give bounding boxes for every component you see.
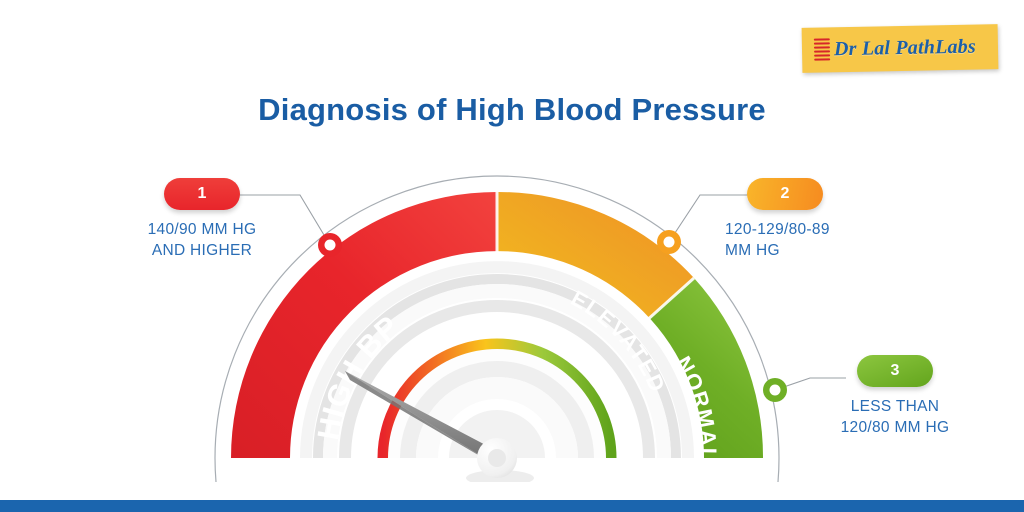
bottom-accent-bar: [0, 500, 1024, 512]
callout-1: 1 140/90 MM HG AND HIGHER: [112, 178, 292, 262]
callout-2-caption: 120-129/80-89 MM HG: [725, 220, 913, 262]
callout-dot-2: [657, 230, 681, 254]
callout-dot-1: [318, 233, 342, 257]
infographic-canvas: Dr Lal PathLabs Diagnosis of High Blood …: [0, 0, 1024, 512]
callout-2: 2 120-129/80-89 MM HG: [723, 178, 913, 262]
callout-1-caption: 140/90 MM HG AND HIGHER: [112, 220, 292, 262]
callout-1-badge[interactable]: 1: [164, 178, 240, 210]
callout-3-badge[interactable]: 3: [857, 355, 933, 387]
callout-3-caption: LESS THAN 120/80 MM HG: [800, 397, 990, 439]
callout-2-badge[interactable]: 2: [747, 178, 823, 210]
callout-dot-3: [763, 378, 787, 402]
callout-3: 3 LESS THAN 120/80 MM HG: [800, 355, 990, 439]
